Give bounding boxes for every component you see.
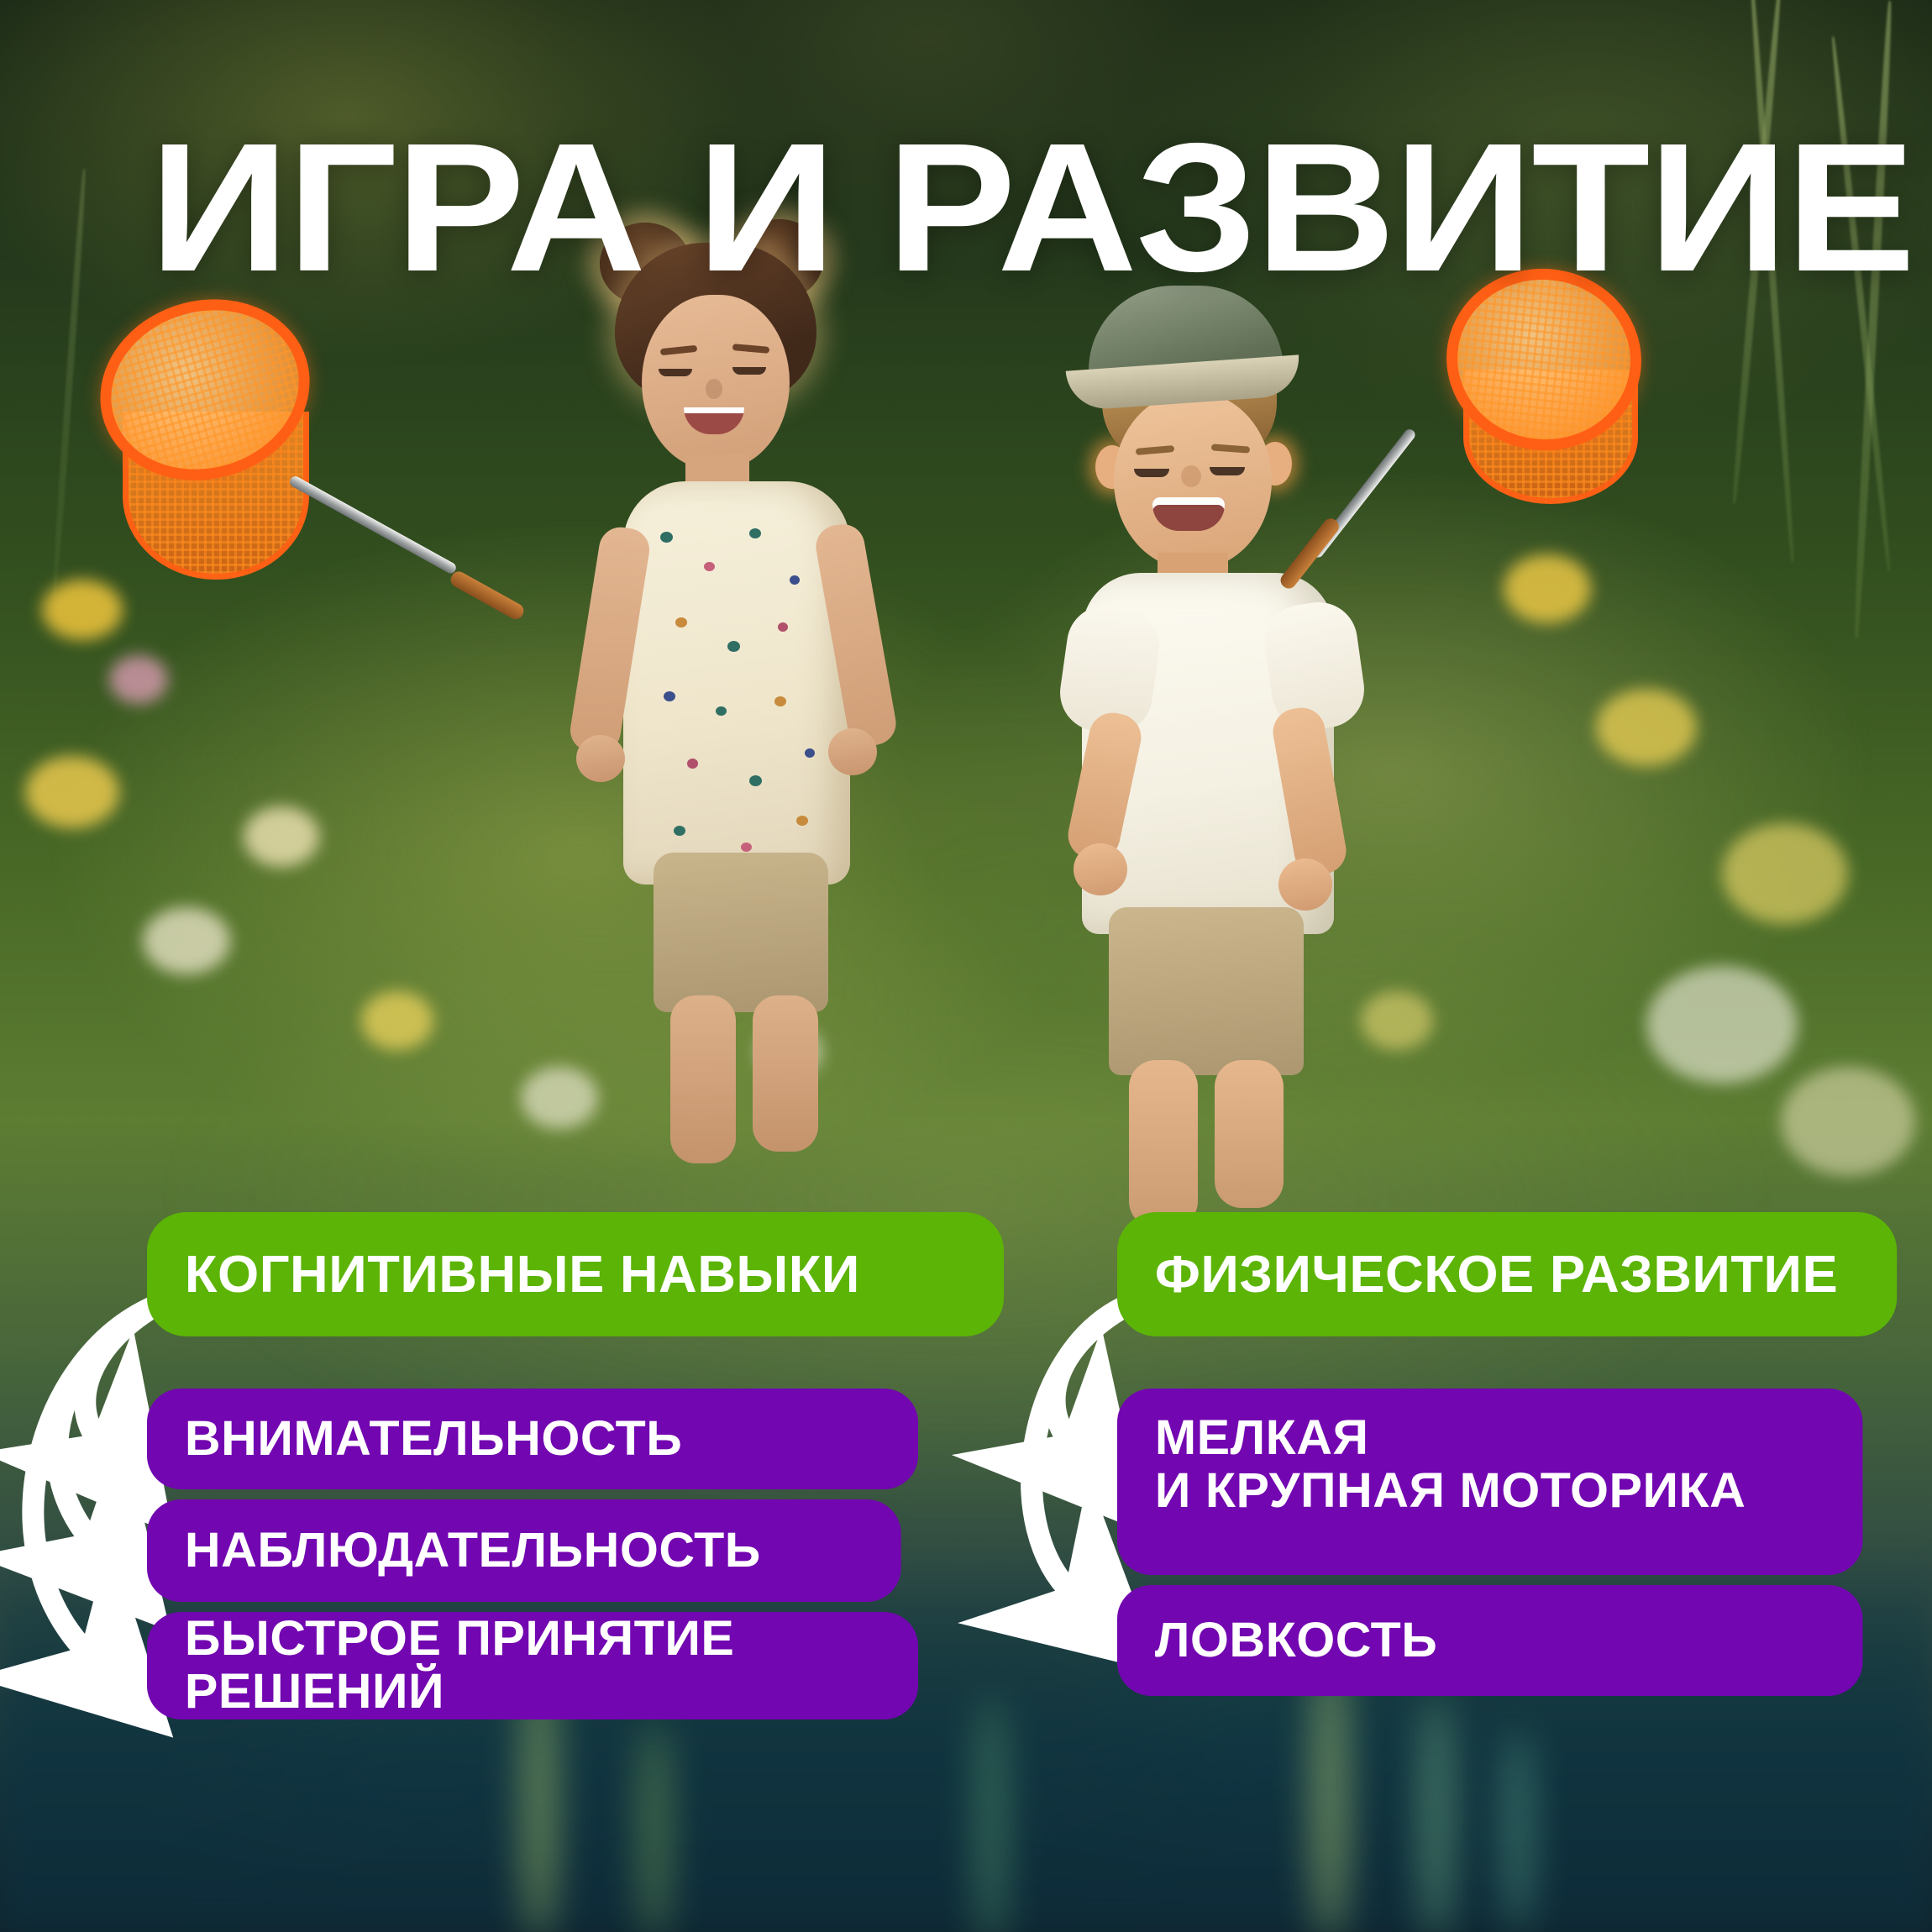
boy-fist-left	[1074, 843, 1127, 895]
girl-leg-right	[753, 995, 818, 1152]
girl-hand-right	[828, 728, 877, 775]
bokeh-flower	[1781, 1067, 1915, 1176]
boy-hand-right	[1278, 858, 1332, 911]
blurred-grass-blade	[638, 1722, 670, 1932]
net-grip	[448, 569, 526, 622]
blurred-grass-blade	[1310, 1655, 1349, 1932]
net-pole	[288, 475, 458, 575]
list-item[interactable]: ВНИМАТЕЛЬНОСТЬ	[147, 1389, 918, 1489]
child-boy	[1058, 286, 1420, 1210]
list-item[interactable]: ЛОВКОСТЬ	[1117, 1585, 1862, 1696]
page-title: ИГРА И РАЗВИТИЕ	[150, 124, 1914, 293]
boy-leg-right	[1215, 1060, 1284, 1208]
list-item-line2: И КРУПНАЯ МОТОРИКА	[1155, 1465, 1746, 1518]
list-item[interactable]: БЫСТРОЕ ПРИНЯТИЕ РЕШЕНИЙ	[147, 1612, 918, 1719]
bokeh-flower	[143, 907, 230, 974]
bokeh-flower	[1646, 966, 1798, 1084]
poster-canvas: ИГРА И РАЗВИТИЕ КОГНИТИВНЫЕ НАВЫКИ ВНИМА…	[0, 0, 1932, 1932]
boy-nose	[1181, 465, 1201, 487]
bokeh-flower	[244, 806, 319, 867]
boy-shorts	[1109, 907, 1304, 1075]
list-item[interactable]: НАБЛЮДАТЕЛЬНОСТЬ	[147, 1499, 901, 1602]
list-item-line1: МЕЛКАЯ	[1155, 1412, 1746, 1465]
boy-leg-left	[1129, 1060, 1198, 1228]
girl-nose	[706, 379, 722, 399]
bokeh-flower	[361, 991, 433, 1050]
column-heading-cognitive[interactable]: КОГНИТИВНЫЕ НАВЫКИ	[147, 1212, 1004, 1336]
list-item[interactable]: МЕЛКАЯ И КРУПНАЯ МОТОРИКА	[1117, 1389, 1862, 1575]
column-heading-physical[interactable]: ФИЗИЧЕСКОЕ РАЗВИТИЕ	[1117, 1212, 1897, 1336]
blurred-grass-blade	[974, 1697, 1008, 1932]
child-girl	[580, 214, 941, 1163]
girl-leg-left	[670, 995, 736, 1163]
girl-shorts	[654, 853, 828, 1012]
blurred-grass-blade	[1504, 1730, 1532, 1932]
blurred-grass-blade	[1420, 1697, 1453, 1932]
butterfly-net-right	[1428, 260, 1898, 714]
bokeh-flower	[25, 756, 119, 828]
column-physical: ФИЗИЧЕСКОЕ РАЗВИТИЕ МЕЛКАЯ И КРУПНАЯ МОТ…	[1117, 1212, 1882, 1696]
butterfly-net-left	[92, 286, 613, 756]
column-cognitive: КОГНИТИВНЫЕ НАВЫКИ ВНИМАТЕЛЬНОСТЬ НАБЛЮД…	[147, 1212, 987, 1719]
bokeh-flower	[1722, 823, 1848, 924]
